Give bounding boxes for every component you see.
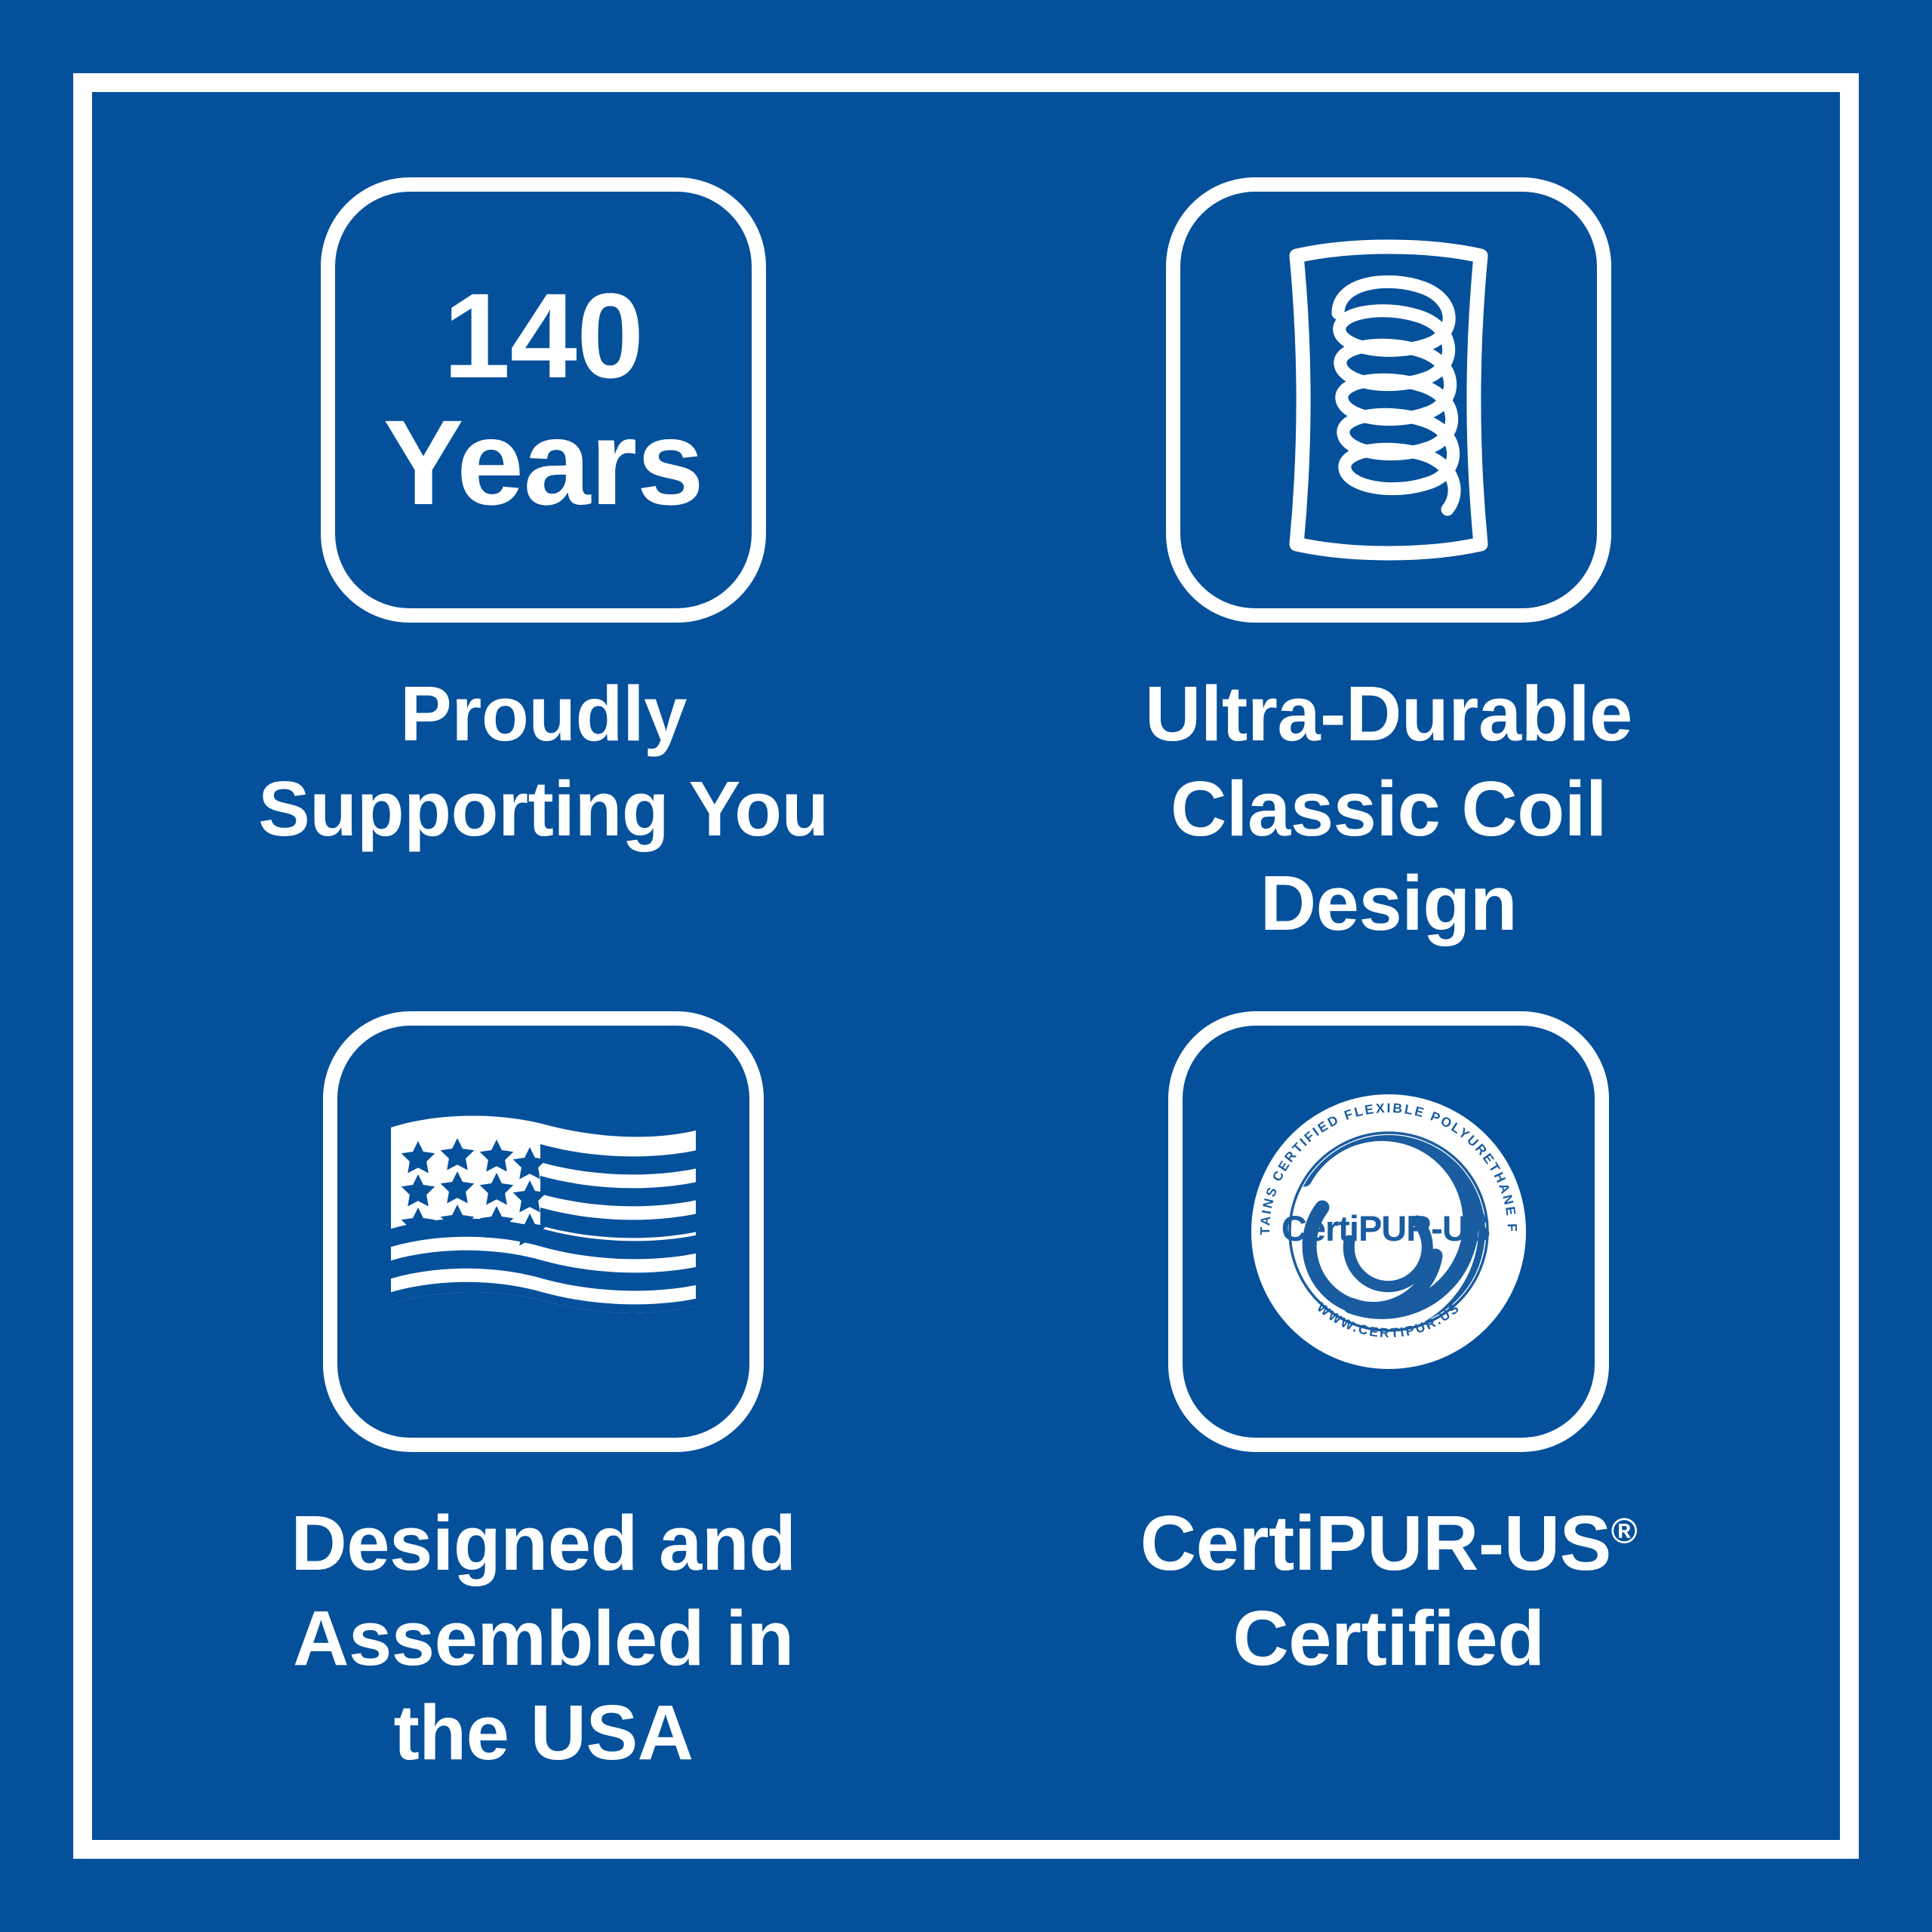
caption-line: Supporting You: [204, 761, 883, 857]
registered-mark: ®: [1611, 1512, 1637, 1552]
years-word: Years: [383, 401, 704, 524]
waving-flag-graphic: [385, 1111, 702, 1352]
seal-registered-mark: ®: [1475, 1210, 1485, 1224]
feature-grid: 140 Years Proudly Supporting You U: [121, 121, 1811, 1811]
caption-line: Certified: [1049, 1591, 1728, 1686]
certipur-us-seal-icon: CONTAINS CERTIFIED FLEXIBLE POLYURETHANE…: [1168, 1011, 1609, 1452]
feature-cell-certipur: CONTAINS CERTIFIED FLEXIBLE POLYURETHANE…: [966, 966, 1811, 1811]
feature-caption-coil: Ultra-Durable Classic Coil Design: [1049, 666, 1728, 951]
feature-caption-years: Proudly Supporting You: [204, 666, 883, 856]
caption-line: the USA: [204, 1685, 883, 1780]
years-badge-text: 140 Years: [383, 275, 704, 524]
promo-graphic-root: 140 Years Proudly Supporting You U: [0, 0, 1932, 1932]
caption-line: Designed and: [204, 1496, 883, 1591]
usa-flag-icon: [323, 1011, 764, 1452]
coil-spring-graphic: [1238, 238, 1540, 562]
feature-caption-usa: Designed and Assembled in the USA: [204, 1496, 883, 1780]
caption-line: Ultra-Durable: [1049, 666, 1728, 761]
caption-line: Proudly: [204, 666, 883, 761]
feature-caption-certipur: CertiPUR-US® Certified: [1049, 1496, 1728, 1685]
caption-line: Classic Coil: [1049, 761, 1728, 857]
certipur-seal-graphic: CONTAINS CERTIFIED FLEXIBLE POLYURETHANE…: [1238, 1081, 1540, 1383]
caption-text: CertiPUR-US: [1140, 1500, 1611, 1586]
feature-cell-years: 140 Years Proudly Supporting You: [121, 121, 966, 966]
feature-cell-usa: Designed and Assembled in the USA: [121, 966, 966, 1811]
caption-line: CertiPUR-US®: [1049, 1496, 1728, 1591]
feature-cell-coil: Ultra-Durable Classic Coil Design: [966, 121, 1811, 966]
caption-line: Design: [1049, 856, 1728, 951]
mattress-coil-icon: [1166, 177, 1611, 623]
years-number: 140: [383, 275, 704, 396]
caption-line: Assembled in: [204, 1591, 883, 1686]
years-badge-icon: 140 Years: [321, 177, 766, 623]
seal-center-wordmark: CertiPUR-US: [1281, 1208, 1490, 1248]
